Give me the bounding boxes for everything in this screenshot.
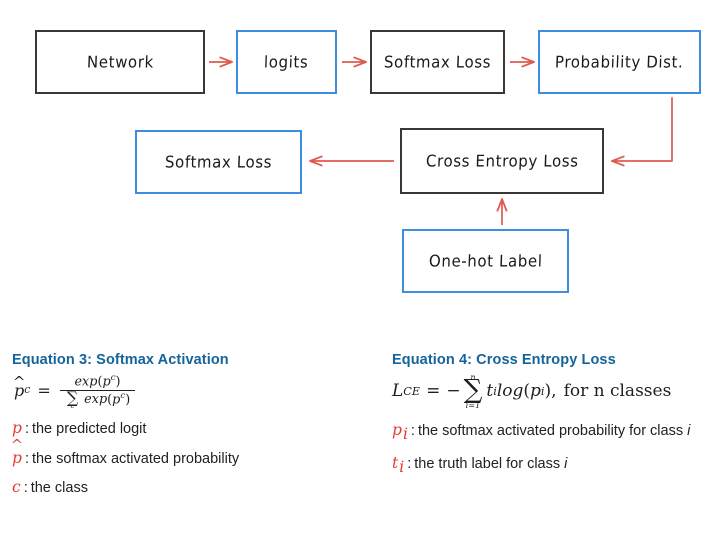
- ce-log: log: [497, 383, 524, 400]
- definition-c-text: the class: [31, 480, 88, 496]
- ce-summation: n ∑ i=1: [464, 374, 483, 409]
- p-numerator: p: [102, 374, 110, 389]
- definition-pi: pi:the softmax activated probability for…: [392, 419, 712, 445]
- flow-diagram: Network logits Softmax Loss Probability …: [0, 0, 722, 320]
- definition-c-colon: :: [24, 480, 28, 496]
- equation-3-block: Equation 3: Softmax Activation ^ p c = e…: [12, 352, 382, 499]
- node-cross-entropy-loss[interactable]: Cross Entropy Loss: [400, 128, 604, 194]
- ce-lparen: (: [523, 383, 530, 400]
- ce-rparen: ): [545, 383, 552, 400]
- definition-phat-colon: :: [25, 451, 29, 467]
- definition-p-text: the predicted logit: [32, 421, 146, 437]
- node-probability-dist[interactable]: Probability Dist.: [538, 30, 701, 94]
- equation-3-definitions: p:the predicted logit ^p:the softmax act…: [12, 417, 382, 499]
- equations-section: Equation 3: Softmax Activation ^ p c = e…: [0, 352, 722, 534]
- definition-pi-text: the softmax activated probability for cl…: [418, 423, 687, 439]
- node-cross-entropy-loss-label: Cross Entropy Loss: [425, 151, 578, 170]
- exp-denominator: exp: [84, 392, 107, 407]
- lce-subscript: CE: [403, 386, 420, 397]
- definition-c-symbol: c: [12, 478, 21, 496]
- node-softmax-loss-top-label: Softmax Loss: [384, 52, 492, 71]
- definition-ti-symbol: t: [392, 454, 398, 472]
- equals-sign: =: [37, 383, 50, 399]
- rparen-den: ): [125, 392, 130, 407]
- softmax-fraction: exp(pc) ∑cexp(pc): [60, 374, 135, 407]
- hat-accent: ^: [13, 375, 26, 390]
- node-logits-label: logits: [264, 52, 309, 71]
- ce-sum-lower-limit: i=1: [466, 402, 481, 409]
- node-probability-dist-label: Probability Dist.: [555, 52, 684, 71]
- definition-pi-text-italic-tail: i: [687, 423, 690, 439]
- node-one-hot-label[interactable]: One-hot Label: [402, 229, 569, 293]
- definition-ti-text-italic-tail: i: [564, 456, 567, 472]
- ce-tail-text: for n classes: [564, 383, 672, 400]
- ce-comma: ,: [551, 383, 556, 400]
- rparen-num: ): [116, 374, 121, 389]
- definition-p-colon: :: [25, 421, 29, 437]
- definition-phat: ^p:the softmax activated probability: [12, 447, 382, 470]
- node-one-hot-label-text: One-hot Label: [428, 251, 542, 270]
- equation-4-heading: Equation 4: Cross Entropy Loss: [392, 352, 712, 368]
- ce-minus-sign: −: [446, 383, 460, 400]
- equation-4-definitions: pi:the softmax activated probability for…: [392, 419, 712, 478]
- definition-p-symbol: p: [12, 419, 22, 437]
- arrow-prob-dist-to-cross-entropy: [612, 98, 672, 161]
- exp-numerator: exp: [74, 374, 97, 389]
- sigma-under: c: [71, 403, 75, 410]
- lce-base: L: [392, 383, 403, 400]
- definition-phat-accent: ^: [11, 439, 23, 454]
- node-softmax-loss-output-label: Softmax Loss: [165, 152, 273, 171]
- equation-4-block: Equation 4: Cross Entropy Loss LCE = − n…: [392, 352, 712, 478]
- phat-symbol: ^ p: [14, 383, 24, 399]
- definition-pi-symbol: p: [392, 421, 402, 439]
- definition-ti-colon: :: [407, 456, 411, 472]
- definition-phat-text: the softmax activated probability: [32, 451, 239, 467]
- definition-ti: ti:the truth label for class i: [392, 452, 712, 478]
- definition-c: c:the class: [12, 476, 382, 499]
- node-network-label: Network: [86, 52, 154, 71]
- fraction-denominator: ∑cexp(pc): [60, 390, 135, 407]
- ce-p-base: p: [530, 383, 541, 400]
- definition-pi-colon: :: [411, 423, 415, 439]
- node-logits[interactable]: logits: [236, 30, 337, 94]
- equation-3-heading: Equation 3: Softmax Activation: [12, 352, 382, 368]
- ce-t-base: t: [486, 383, 493, 400]
- equation-4-formula: LCE = − n ∑ i=1 tilog(pi), for n classes: [392, 374, 712, 409]
- definition-pi-subscript: i: [403, 425, 408, 443]
- ce-equals-sign: =: [426, 383, 440, 400]
- node-softmax-loss-output[interactable]: Softmax Loss: [135, 130, 302, 194]
- summation-symbol: ∑c: [67, 392, 78, 407]
- definition-ti-text: the truth label for class: [414, 456, 564, 472]
- node-softmax-loss-top[interactable]: Softmax Loss: [370, 30, 505, 94]
- node-network[interactable]: Network: [35, 30, 205, 94]
- definition-ti-subscript: i: [399, 458, 404, 476]
- definition-p: p:the predicted logit: [12, 417, 382, 440]
- definition-phat-symbol: ^p: [12, 447, 22, 469]
- equation-3-formula: ^ p c = exp(pc) ∑cexp(pc): [14, 374, 382, 407]
